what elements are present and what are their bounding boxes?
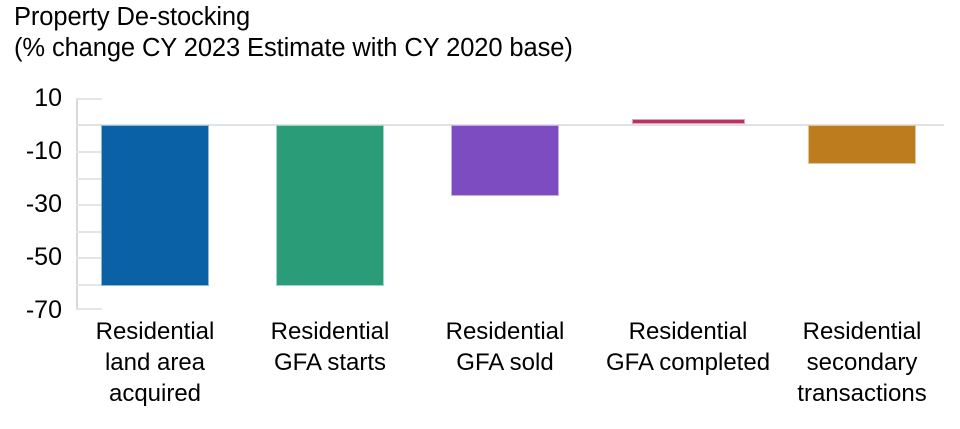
bar-residential-gfa-completed[interactable] xyxy=(632,119,745,124)
bar-residential-gfa-sold[interactable] xyxy=(451,125,559,197)
x-category-label-0: Residentialland areaacquired xyxy=(60,316,250,409)
x-axis-category-labels: Residentialland areaacquired Residential… xyxy=(76,316,960,426)
x-category-label-2: ResidentialGFA sold xyxy=(410,316,600,378)
bar-residential-secondary-transactions[interactable] xyxy=(808,125,916,165)
bars-layer xyxy=(76,98,944,310)
y-tick-label--50: -50 xyxy=(26,245,62,270)
bar-residential-gfa-starts[interactable] xyxy=(276,125,384,287)
x-category-label-3: ResidentialGFA completed xyxy=(586,316,791,378)
y-tick-label--10: -10 xyxy=(26,139,62,164)
chart-title-block: Property De-stocking (% change CY 2023 E… xyxy=(14,2,934,64)
chart-title: Property De-stocking xyxy=(14,2,934,33)
y-tick-label--30: -30 xyxy=(26,192,62,217)
bar-residential-land-area-acquired[interactable] xyxy=(101,125,209,287)
chart-subtitle: (% change CY 2023 Estimate with CY 2020 … xyxy=(14,33,934,64)
y-axis-labels: 10 -10 -30 -50 -70 xyxy=(0,98,70,310)
y-tick-label--70: -70 xyxy=(26,298,62,323)
x-category-label-1: ResidentialGFA starts xyxy=(235,316,425,378)
x-category-label-4: Residentialsecondarytransactions xyxy=(765,316,960,409)
plot-area xyxy=(76,98,944,310)
chart-container: Property De-stocking (% change CY 2023 E… xyxy=(0,0,960,429)
y-tick-label-10: 10 xyxy=(34,86,62,111)
